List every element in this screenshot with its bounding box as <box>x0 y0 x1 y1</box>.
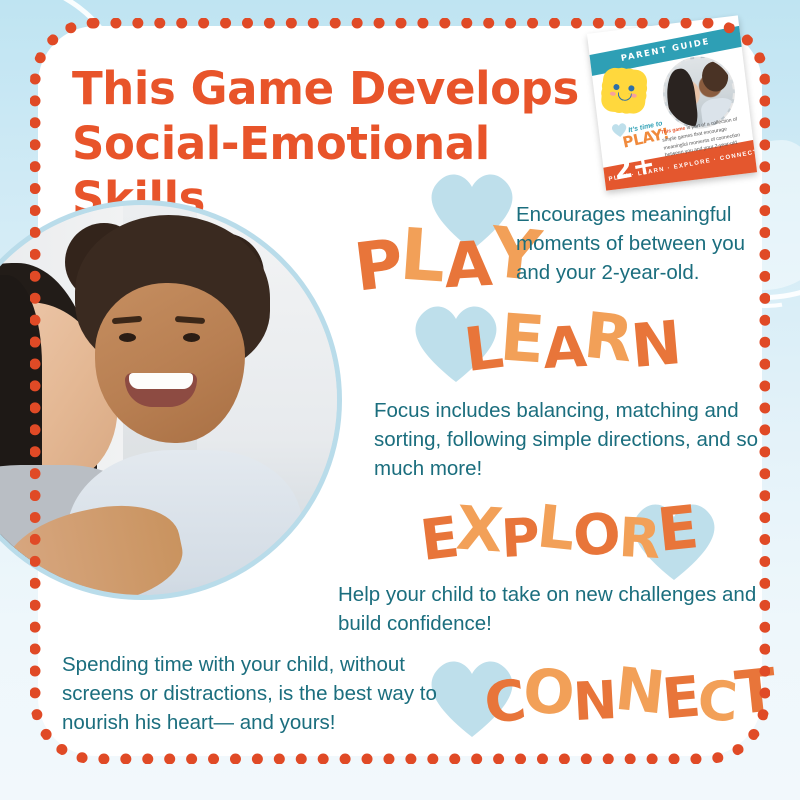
age-badge: 2+ <box>611 151 657 185</box>
pillar-word-connect: CONNECT <box>484 665 774 725</box>
pillar-letter: T <box>733 660 779 723</box>
page-title-line-1: This Game Develops <box>72 62 579 115</box>
pillar-letter: L <box>398 219 448 293</box>
pillar-letter: O <box>521 661 577 725</box>
sun-cheek-left <box>610 92 616 97</box>
pillar-word-play: PLAY <box>354 222 538 294</box>
smiling-sun-icon <box>604 70 645 111</box>
pillar-word-explore: EXPLORE <box>420 502 697 562</box>
guide-photo-child-hair <box>700 60 729 93</box>
parent-guide-card: PARENT GUIDE It's time to PLAY! <box>587 15 757 190</box>
hero-photo <box>0 200 342 600</box>
pillar-copy-explore: Help your child to take on new challenge… <box>338 580 758 638</box>
pillar-letter: R <box>617 511 662 567</box>
pillar-letter: E <box>498 307 547 375</box>
pillar-copy-connect: Spending time with your child, without s… <box>62 650 452 737</box>
pillar-letter: X <box>454 498 505 562</box>
photo-child-teeth <box>129 373 193 389</box>
sun-eye-right <box>628 85 635 92</box>
pillar-copy-play: Encourages meaningful moments of between… <box>516 200 766 287</box>
sun-mouth <box>617 92 632 101</box>
pillar-letter: C <box>696 674 739 730</box>
photo-child-eye-left <box>119 333 136 342</box>
pillar-copy-learn: Focus includes balancing, matching and s… <box>374 396 764 483</box>
sun-eye-left <box>613 84 620 91</box>
pillar-letter: N <box>628 313 683 377</box>
poster-root: This Game Develops Social-Emotional Skil… <box>0 0 800 800</box>
pillar-letter: O <box>571 506 623 566</box>
pillar-word-learn: LEARN <box>464 310 679 375</box>
photo-child-eye-right <box>183 333 200 342</box>
pillar-letter: E <box>655 497 702 560</box>
